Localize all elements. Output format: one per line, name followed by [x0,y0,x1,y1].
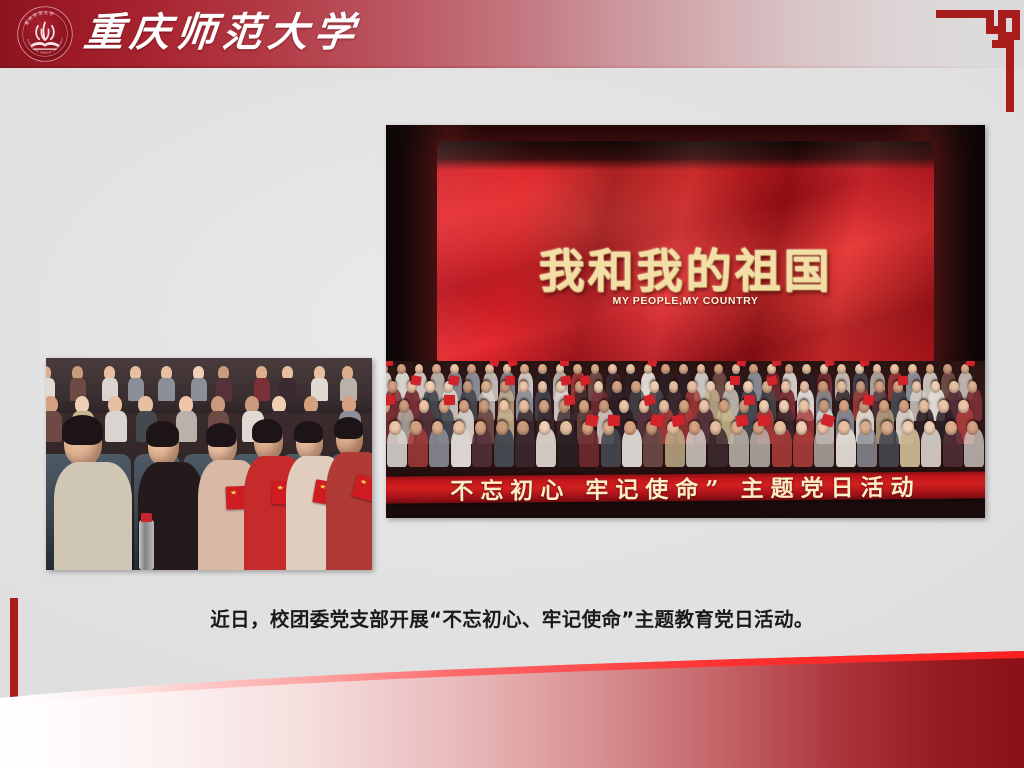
film-title-block: 我和我的祖国 MY PEOPLE,MY COUNTRY [437,248,934,307]
header-banner: 重庆师范大学 CHONGQING NORMAL UNIVERSITY [0,0,1024,68]
audience-person-body [158,378,175,401]
crowd-person-head [631,381,640,393]
crowd-person-head [838,421,850,435]
handheld-flag [863,394,875,405]
crowd-person-head [481,381,490,393]
crowd-person-head [779,400,789,413]
crowd-person-head [517,421,529,435]
handheld-flag [824,361,835,368]
crowd-person-head [619,400,629,413]
handheld-flag [771,361,782,367]
crowd-person-head [453,421,465,435]
handheld-flag [505,375,516,384]
handheld-flag [386,394,396,405]
crowd-person-head [539,421,551,435]
crowd-person-head [924,421,936,435]
cinema-scene: 我和我的祖国 MY PEOPLE,MY COUNTRY 不忘初心 牢记使命” 主… [386,125,985,518]
event-banner: 不忘初心 牢记使命” 主题党日活动 [386,471,985,503]
photo-secondary-assembly [46,358,372,570]
crowd-person-head [594,381,603,393]
crowd-person-head [796,421,808,435]
photo-main-assembly: 我和我的祖国 MY PEOPLE,MY COUNTRY 不忘初心 牢记使命” 主… [386,125,985,518]
crowd-person-head [710,421,722,435]
film-subtitle-text: MY PEOPLE,MY COUNTRY [437,295,934,307]
event-banner-text: 不忘初心 牢记使命” 主题党日活动 [450,468,921,506]
crowd-person-head [802,364,811,375]
crowd-person-head [539,400,549,413]
crowd-person-head [714,364,723,375]
crowd-person-head [799,400,809,413]
handheld-flag [608,415,621,426]
crowd-person-head [908,364,917,375]
crowd-person-head [432,364,441,375]
crowd-person-head [689,421,701,435]
handheld-flag [730,376,740,385]
crowd-person-head [612,381,621,393]
crowd-person-head [519,381,528,393]
audience-person-hair [146,421,179,447]
handheld-flag [898,375,909,384]
handheld-flag [735,414,749,427]
handheld-flag [386,361,394,367]
water-bottle [139,520,154,570]
handheld-flag [560,375,571,385]
crowd-person-head [912,381,921,393]
crowd-person-head [626,364,635,375]
flag-star-icon [359,478,368,485]
slide-caption: 近日，校团委党支部开展“不忘初心、牢记使命”主题教育党日活动。 [0,603,1024,632]
water-bottle-cap [141,513,152,522]
crowd-person-head [659,400,669,413]
crowd-person-head [496,421,508,435]
seated-audience [46,358,372,570]
crowd-person-head [943,364,952,375]
crowd-person-head [599,400,609,413]
crowd-person-head [669,381,678,393]
handheld-flag [507,361,518,368]
handheld-flag [448,375,460,386]
crowd-person-head [650,381,659,393]
crowd-person-head [958,400,968,413]
crowd-person-head [397,364,406,375]
audience-person-hair [62,415,103,445]
crowd-person-head [687,381,696,393]
crowd-person-head [856,381,865,393]
handheld-flag [560,361,569,366]
crowd-person-head [432,421,444,435]
flag-star-icon [276,485,284,491]
audience-person-body [176,411,198,441]
crowd-person-head [945,421,957,435]
handheld-flag [744,394,755,404]
crowd-person-head [450,364,459,375]
handheld-flag [859,361,870,367]
crowd-person-head [679,364,688,375]
crowd-person-head [475,421,487,435]
crowd-person-head [899,400,909,413]
crowd-person-head [388,381,397,393]
handheld-flag [411,375,422,385]
audience-person-body [105,411,127,441]
audience-person-front-body [326,452,372,570]
crowd-person-head [781,381,790,393]
crowd-person-head [560,421,572,435]
crowd-person-head [800,381,809,393]
audience-person-body [46,411,62,441]
crowd-person-head [774,421,786,435]
audience-person-hair [206,423,236,447]
crowd-person-head [579,400,589,413]
flag-star-icon [230,490,238,495]
corner-ornament-top-right [936,8,1024,120]
university-wordmark: 重庆师范大学 [84,4,360,62]
crowd-person-head [624,421,636,435]
crowd-person-head [699,400,709,413]
crowd-person-head [410,421,422,435]
audience-person-hair [294,421,323,443]
group-photo-crowd: 不忘初心 牢记使命” 主题党日活动 [386,361,985,518]
university-name-text: 重庆师范大学 [82,13,362,53]
university-seal-icon: 重庆师范大学 CHONGQING NORMAL UNIVERSITY [16,5,74,63]
crowd-person-head [538,364,547,375]
crowd-person-head [463,381,472,393]
crowd-person-head [839,400,849,413]
crowd-person-head [389,421,401,435]
audience-person-body [191,378,208,401]
crowd-person-head [902,421,914,435]
audience-person-hair [334,417,363,439]
slide-canvas: 重庆师范大学 CHONGQING NORMAL UNIVERSITY [0,0,1024,768]
crowd-person-head [875,381,884,393]
crowd-person-head [931,381,940,393]
crowd-person-head [425,381,434,393]
crowd-person-head [967,421,979,435]
audience-person-front-body [54,462,132,570]
crowd-person-head [881,421,893,435]
crowd-person-head [679,400,689,413]
audience-person-hair [252,419,282,443]
crowd-person-head [860,421,872,435]
handheld-flag [757,415,770,426]
handheld-flag [563,394,575,405]
crowd-person-head [819,400,829,413]
crowd-person-head [573,364,582,375]
auditorium-scene [46,358,372,570]
header-underline [0,66,1024,68]
crowd-person-head [538,381,547,393]
crowd-person-head [719,400,729,413]
film-title-text: 我和我的祖国 [437,248,934,294]
crowd-person-head [938,400,948,413]
crowd-person-head [879,400,889,413]
handheld-flag [444,395,455,405]
crowd-person-head [759,400,769,413]
handheld-flag [643,393,656,405]
crowd-person-head [949,381,958,393]
crowd-person-head [818,381,827,393]
crowd-person-head [919,400,929,413]
cinema-screen: 我和我的祖国 MY PEOPLE,MY COUNTRY [437,141,934,369]
crowd-person-head [743,381,752,393]
